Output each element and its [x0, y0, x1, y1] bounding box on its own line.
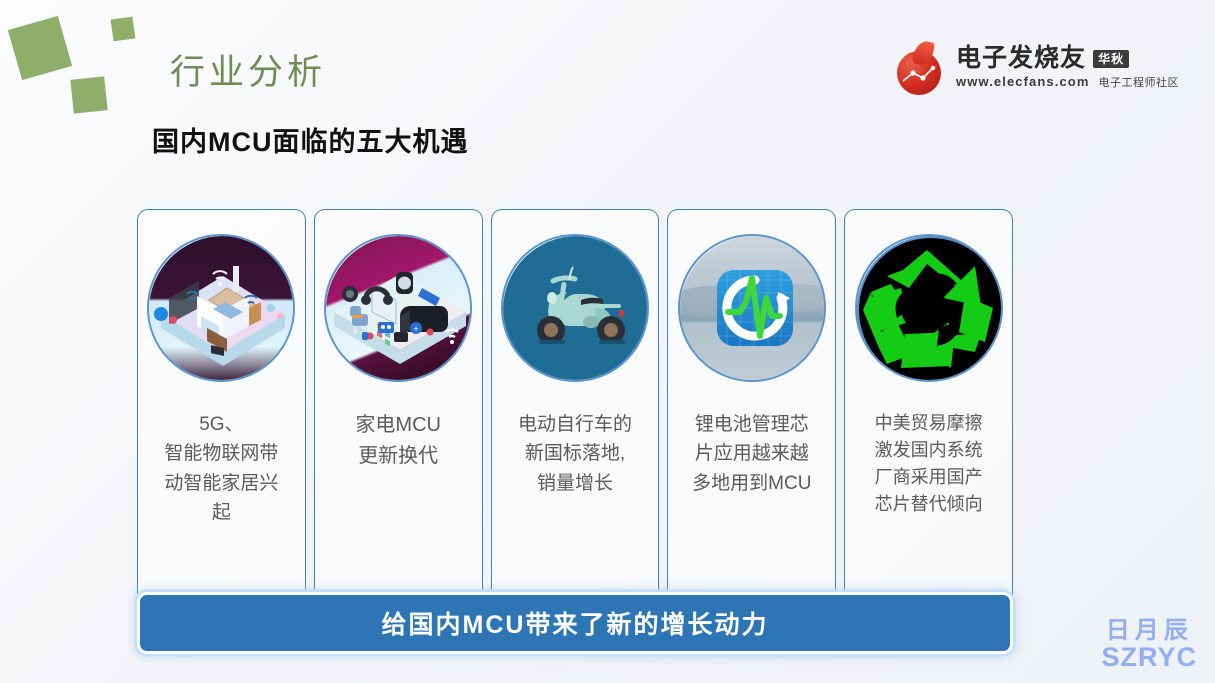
conclusion-banner-text: 给国内MCU带来了新的增长动力 — [382, 605, 769, 641]
brand-name: 电子发烧友 — [956, 46, 1086, 71]
electric-scooter-illustration — [501, 234, 649, 382]
opportunity-card-1-text: 5G、 智能物联网带 动智能家居兴 起 — [158, 410, 284, 528]
opportunity-card-3: 电动自行车的 新国标落地, 销量增长 — [491, 209, 660, 598]
opportunity-card-5-text: 中美贸易摩擦 激发国内系统 厂商采用国产 芯片替代倾向 — [869, 410, 989, 518]
watermark-english: SZRYC — [1101, 643, 1197, 671]
watermark: 日月辰 SZRYC — [1101, 617, 1197, 671]
opportunity-card-2: + 家电MCU 更新换代 — [314, 209, 483, 598]
home-appliance-devices-illustration: + — [324, 234, 472, 382]
elecfans-flame-circuit-icon — [895, 42, 947, 94]
decorative-square-medium — [70, 76, 107, 113]
brand-url: www.elecfans.com — [956, 74, 1089, 89]
opportunity-card-3-text: 电动自行车的 新国标落地, 销量增长 — [512, 410, 638, 498]
opportunity-card-1: 5G、 智能物联网带 动智能家居兴 起 — [137, 209, 306, 598]
opportunity-card-4: 锂电池管理芯 片应用越来越 多地用到MCU — [667, 209, 836, 598]
opportunity-card-2-text: 家电MCU 更新换代 — [349, 410, 447, 472]
brand-badge: 华秋 — [1093, 50, 1129, 68]
decorative-squares-group — [0, 0, 170, 140]
watermark-chinese: 日月辰 — [1101, 617, 1197, 642]
smart-home-iot-illustration — [147, 234, 295, 382]
brand-logo: 电子发烧友 华秋 www.elecfans.com 电子工程师社区 — [895, 42, 1179, 94]
page-title: 国内MCU面临的五大机遇 — [152, 120, 469, 159]
battery-management-app-icon — [678, 234, 826, 382]
brand-tagline: 电子工程师社区 — [1099, 74, 1180, 90]
conclusion-banner: 给国内MCU带来了新的增长动力 — [137, 592, 1013, 654]
opportunity-cards-row: 5G、 智能物联网带 动智能家居兴 起 — [137, 209, 1013, 598]
opportunity-card-4-text: 锂电池管理芯 片应用越来越 多地用到MCU — [686, 410, 817, 498]
recycling-symbol-illustration — [855, 234, 1003, 382]
decorative-square-small — [111, 17, 136, 42]
decorative-square-large — [8, 16, 72, 80]
svg-text:+: + — [414, 324, 419, 334]
section-header: 行业分析 — [170, 44, 326, 95]
opportunity-card-5: 中美贸易摩擦 激发国内系统 厂商采用国产 芯片替代倾向 — [844, 209, 1013, 598]
